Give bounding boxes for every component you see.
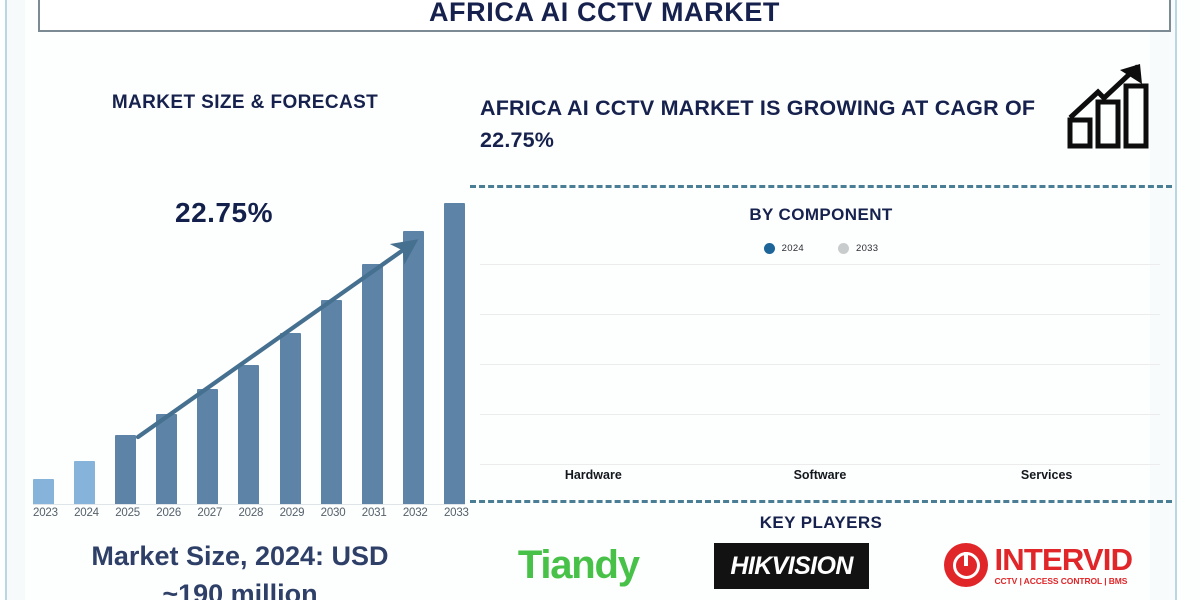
forecast-bar-2025 — [115, 435, 136, 504]
forecast-bar-2023 — [33, 479, 54, 504]
logo-hikvision: HIKVISION — [714, 543, 868, 589]
forecast-x-label-2031: 2031 — [362, 507, 383, 519]
logo-intervid-tagline: CCTV | ACCESS CONTROL | BMS — [994, 576, 1132, 587]
forecast-bar-2033 — [444, 203, 465, 504]
forecast-x-label-2029: 2029 — [280, 507, 301, 519]
component-category-labels: HardwareSoftwareServices — [480, 468, 1160, 482]
forecast-bar-2030 — [321, 300, 342, 504]
forecast-x-label-2032: 2032 — [403, 507, 424, 519]
divider-bottom — [470, 500, 1172, 503]
forecast-bar-2026 — [156, 414, 177, 504]
forecast-bar-2024 — [74, 461, 95, 504]
forecast-bar-2027 — [197, 389, 218, 504]
legend-label-2024: 2024 — [782, 243, 804, 254]
forecast-x-label-2026: 2026 — [156, 507, 177, 519]
left-panel: MARKET SIZE & FORECAST 22.75% 2023202420… — [25, 55, 465, 600]
logo-intervid-wordmark: INTERVID — [994, 544, 1132, 576]
forecast-bar-2031 — [362, 264, 383, 504]
by-component-title: BY COMPONENT — [466, 205, 1176, 225]
legend-item-2024: 2024 — [764, 243, 804, 254]
forecast-bars — [33, 192, 465, 504]
market-size-line-1: Market Size, 2024: USD — [5, 537, 475, 575]
left-frame-line — [5, 0, 7, 600]
forecast-x-label-2030: 2030 — [321, 507, 342, 519]
key-players-title: KEY PLAYERS — [466, 513, 1176, 533]
market-size-forecast-heading: MARKET SIZE & FORECAST — [25, 92, 465, 114]
forecast-x-label-2028: 2028 — [238, 507, 259, 519]
left-frame-fill — [7, 0, 25, 600]
forecast-x-label-2025: 2025 — [115, 507, 136, 519]
component-legend: 2024 2033 — [466, 243, 1176, 254]
component-label-services: Services — [952, 468, 1142, 482]
logo-hikvision-wordmark: HIKVISION — [730, 553, 852, 579]
legend-dot-2033-icon — [838, 243, 849, 254]
component-label-software: Software — [725, 468, 915, 482]
forecast-x-label-2033: 2033 — [444, 507, 465, 519]
right-panel: AFRICA AI CCTV MARKET IS GROWING AT CAGR… — [466, 0, 1176, 600]
forecast-bar-2029 — [280, 333, 301, 504]
intervid-wordmark-block: INTERVID CCTV | ACCESS CONTROL | BMS — [994, 544, 1132, 587]
component-gridline — [480, 464, 1160, 465]
legend-item-2033: 2033 — [838, 243, 878, 254]
forecast-x-axis-labels: 2023202420252026202720282029203020312032… — [33, 507, 465, 519]
market-size-bar-chart — [25, 180, 465, 505]
component-bar-chart — [480, 264, 1160, 464]
forecast-x-label-2027: 2027 — [197, 507, 218, 519]
growth-headline: AFRICA AI CCTV MARKET IS GROWING AT CAGR… — [480, 92, 1050, 156]
forecast-bar-2028 — [238, 365, 259, 504]
component-label-hardware: Hardware — [498, 468, 688, 482]
logo-tiandy: Tiandy — [518, 543, 639, 587]
forecast-bar-2032 — [403, 231, 424, 504]
forecast-axis-line — [33, 504, 465, 505]
market-size-line-2: ~190 million — [5, 575, 475, 600]
growth-bar-chart-arrow-icon — [1062, 58, 1158, 150]
legend-label-2033: 2033 — [856, 243, 878, 254]
logo-intervid: INTERVID CCTV | ACCESS CONTROL | BMS — [944, 543, 1132, 587]
infographic-page: AFRICA AI CCTV MARKET MARKET SIZE & FORE… — [0, 0, 1200, 600]
market-size-value: Market Size, 2024: USD ~190 million — [5, 537, 475, 600]
component-bar-groups — [480, 264, 1160, 464]
legend-dot-2024-icon — [764, 243, 775, 254]
forecast-x-label-2024: 2024 — [74, 507, 95, 519]
intervid-power-icon — [944, 543, 988, 587]
divider-top — [470, 185, 1172, 188]
key-players-logos: Tiandy HIKVISION INTERVID CCTV | ACCESS … — [480, 543, 1170, 600]
forecast-x-label-2023: 2023 — [33, 507, 54, 519]
logo-tiandy-wordmark: Tiandy — [518, 543, 639, 587]
